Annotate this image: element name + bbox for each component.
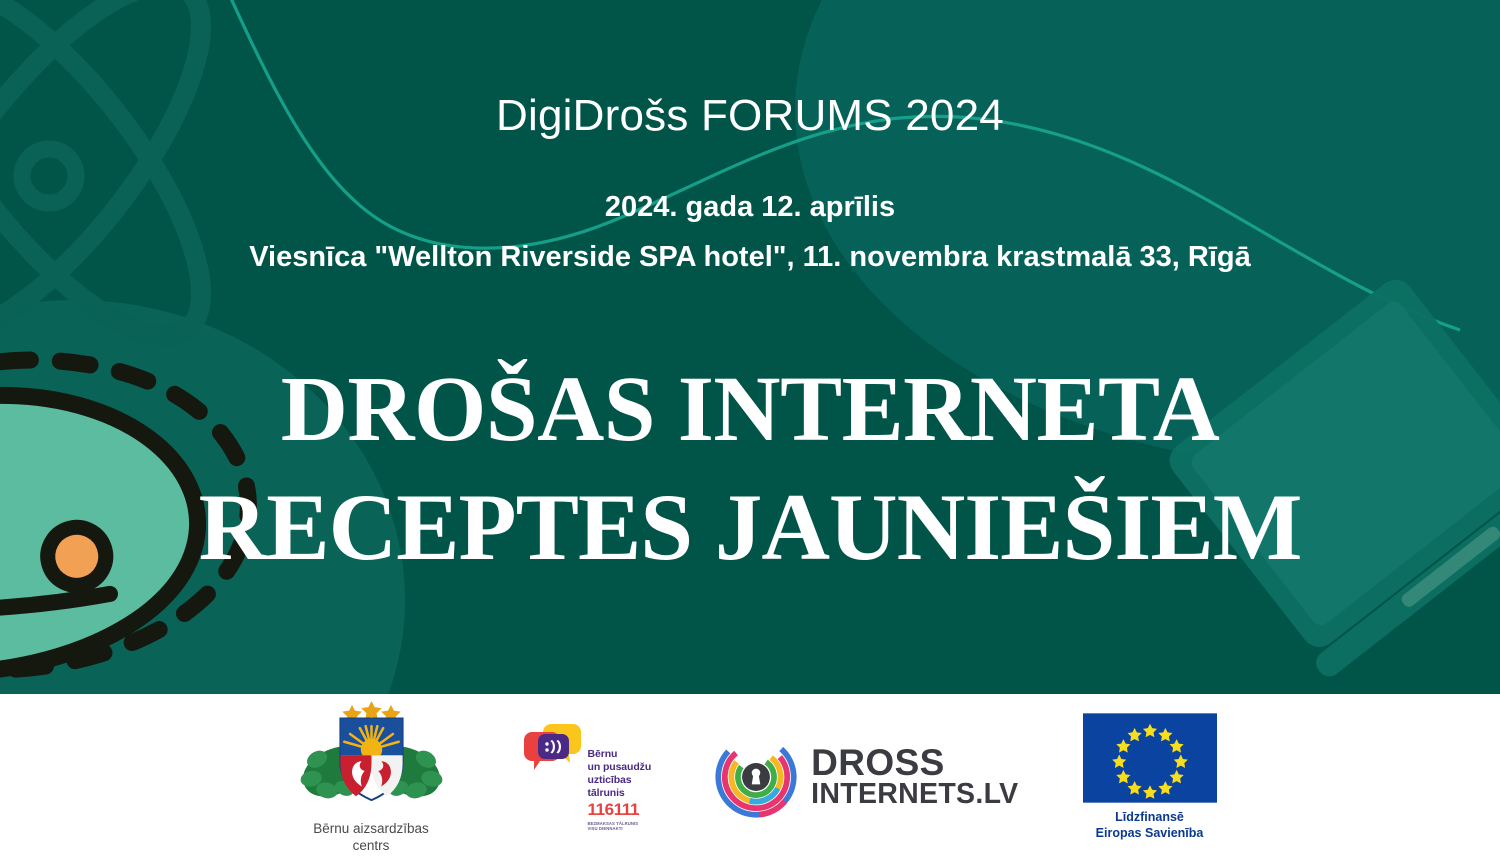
headline-line-2: RECEPTES JAUNIEŠIEM [0,468,1500,587]
keyhole-rings-icon [715,736,797,818]
bernu-aizsardzibas-centrs-logo[interactable]: Bērnu aizsardzības centrs [284,699,459,854]
event-date: 2024. gada 12. aprīlis [0,190,1500,225]
eu-caption: Līdzfinansē Eiropas Savienība [1096,810,1204,841]
hero-text-block: DigiDrošs FORUMS 2024 2024. gada 12. apr… [0,0,1500,694]
dross-wordmark: DROSS INTERNETS.LV [811,745,1018,809]
dross-word-line-2: INTERNETS.LV [811,781,1018,809]
dross-word-line-1: DROSS [811,745,1018,781]
helpline-line-3: uzticības [588,774,652,787]
sponsor-logo-bar: Bērnu aizsardzības centrs [0,694,1500,860]
fine-print-line-2: VISU DIENNAKTI [588,826,652,831]
speech-bubbles-icon [523,722,585,774]
uzticibas-talrunis-logo[interactable]: Bērnu un pusaudžu uzticības tālrunis 116… [523,722,652,831]
helpline-number: 116111 [588,801,652,820]
caption-line-2: centrs [313,838,429,855]
helpline-line-4: tālrunis [588,787,652,800]
drossinternets-lv-logo[interactable]: DROSS INTERNETS.LV [715,736,1018,818]
hero-banner: DigiDrošs FORUMS 2024 2024. gada 12. apr… [0,0,1500,694]
eu-flag-icon [1083,713,1217,803]
page-title: DigiDrošs FORUMS 2024 [0,92,1500,140]
helpline-line-1: Bērnu [588,748,652,761]
eu-caption-line-2: Eiropas Savienība [1096,826,1204,842]
headline-line-1: DROŠAS INTERNETA [0,352,1500,468]
bernu-aizsardzibas-centrs-caption: Bērnu aizsardzības centrs [313,821,429,855]
latvia-coat-of-arms-icon [284,699,459,816]
event-venue: Viesnīca "Wellton Riverside SPA hotel", … [0,240,1500,275]
headline: DROŠAS INTERNETA RECEPTES JAUNIEŠIEM [0,352,1500,587]
helpline-fine-print: BEZMAKSAS TĀLRUNIS VISU DIENNAKTI [588,821,652,832]
caption-line-1: Bērnu aizsardzības [313,821,429,838]
helpline-text: Bērnu un pusaudžu uzticības tālrunis 116… [588,748,652,831]
eu-caption-line-1: Līdzfinansē [1096,810,1204,826]
european-union-logo[interactable]: Līdzfinansē Eiropas Savienība [1083,713,1217,841]
helpline-line-2: un pusaudžu [588,761,652,774]
poster-canvas: DigiDrošs FORUMS 2024 2024. gada 12. apr… [0,0,1500,860]
